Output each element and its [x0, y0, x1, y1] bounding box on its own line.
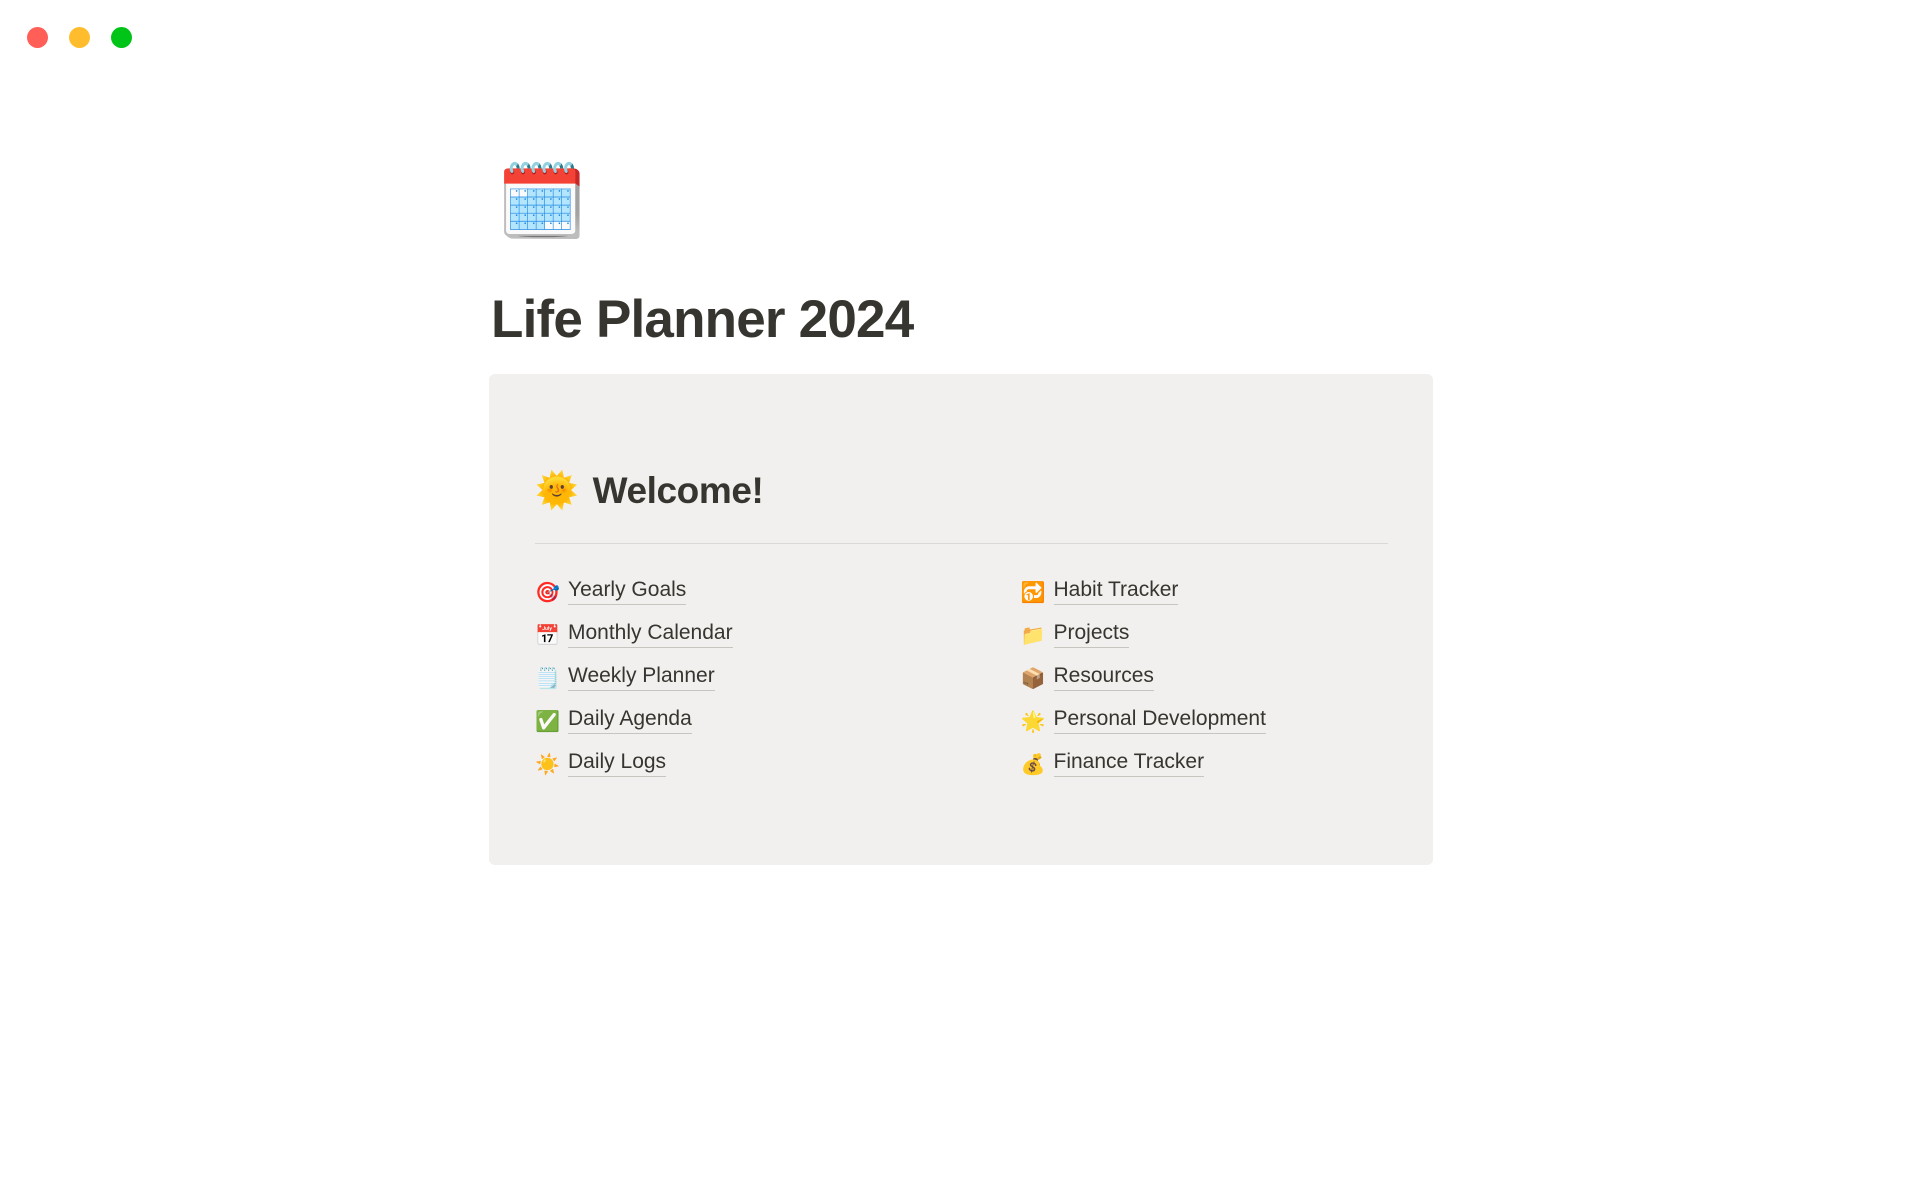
file-folder-icon: 📁: [1021, 625, 1043, 645]
spiral-notepad-icon: 🗒️: [535, 668, 557, 688]
link-projects[interactable]: Projects: [1054, 621, 1130, 648]
link-daily-agenda[interactable]: Daily Agenda: [568, 707, 692, 734]
spiral-calendar-icon[interactable]: 🗓️: [497, 165, 587, 237]
page-links-columns: 🎯 Yearly Goals 📅 Monthly Calendar 🗒️ Wee…: [535, 570, 1395, 785]
callout-divider: [535, 543, 1388, 544]
page-links-column-left: 🎯 Yearly Goals 📅 Monthly Calendar 🗒️ Wee…: [535, 570, 910, 785]
sun-with-face-icon: 🌞: [535, 474, 579, 509]
link-daily-logs[interactable]: Daily Logs: [568, 750, 666, 777]
link-finance-tracker[interactable]: Finance Tracker: [1054, 750, 1205, 777]
page-links-column-right: 🔂 Habit Tracker 📁 Projects 📦 Resources 🌟…: [1021, 570, 1396, 785]
sun-icon: ☀️: [535, 754, 557, 774]
page-title[interactable]: Life Planner 2024: [491, 290, 913, 349]
list-item[interactable]: 🎯 Yearly Goals: [535, 570, 910, 613]
check-mark-button-icon: ✅: [535, 711, 557, 731]
glowing-star-icon: 🌟: [1021, 711, 1043, 731]
list-item[interactable]: 🗒️ Weekly Planner: [535, 656, 910, 699]
list-item[interactable]: 🌟 Personal Development: [1021, 699, 1396, 742]
welcome-callout-card: 🌞 Welcome! 🎯 Yearly Goals 📅 Monthly Cale…: [489, 374, 1433, 865]
direct-hit-icon: 🎯: [535, 582, 557, 602]
page-content: 🗓️ Life Planner 2024 🌞 Welcome! 🎯 Yearly…: [0, 0, 1920, 1200]
list-item[interactable]: 📁 Projects: [1021, 613, 1396, 656]
list-item[interactable]: ✅ Daily Agenda: [535, 699, 910, 742]
list-item[interactable]: 💰 Finance Tracker: [1021, 742, 1396, 785]
welcome-heading-label: Welcome!: [593, 471, 764, 512]
money-bag-icon: 💰: [1021, 754, 1043, 774]
link-resources[interactable]: Resources: [1054, 664, 1154, 691]
repeat-single-button-icon: 🔂: [1021, 582, 1043, 602]
list-item[interactable]: 📅 Monthly Calendar: [535, 613, 910, 656]
link-personal-development[interactable]: Personal Development: [1054, 707, 1266, 734]
list-item[interactable]: 🔂 Habit Tracker: [1021, 570, 1396, 613]
list-item[interactable]: ☀️ Daily Logs: [535, 742, 910, 785]
link-habit-tracker[interactable]: Habit Tracker: [1054, 578, 1179, 605]
package-icon: 📦: [1021, 668, 1043, 688]
link-weekly-planner[interactable]: Weekly Planner: [568, 664, 715, 691]
list-item[interactable]: 📦 Resources: [1021, 656, 1396, 699]
welcome-heading: 🌞 Welcome!: [535, 471, 763, 512]
link-yearly-goals[interactable]: Yearly Goals: [568, 578, 686, 605]
link-monthly-calendar[interactable]: Monthly Calendar: [568, 621, 733, 648]
calendar-icon: 📅: [535, 625, 557, 645]
